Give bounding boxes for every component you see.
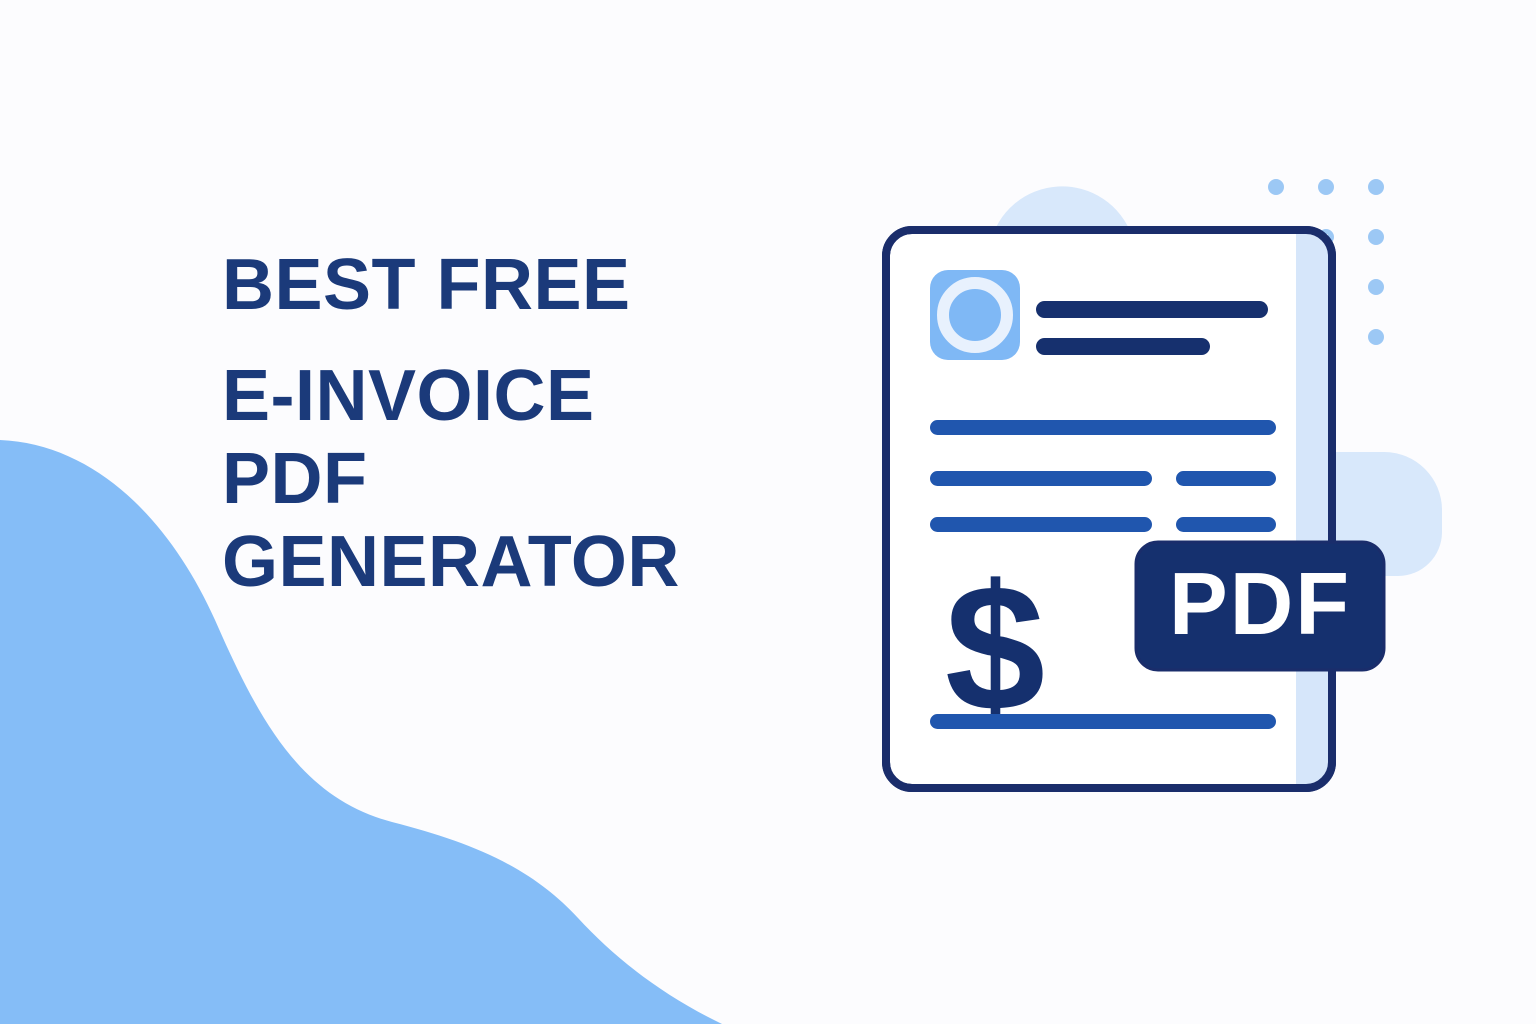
headline-line-3: PDF [222, 442, 842, 517]
headline-line-1: BEST FREE [222, 248, 842, 323]
headline-line-2: E-INVOICE [222, 359, 842, 434]
pdf-badge: PDF [840, 90, 1480, 830]
invoice-pdf-illustration: $ PDF [840, 90, 1480, 830]
headline-block: BEST FREE E-INVOICE PDF GENERATOR [222, 248, 842, 600]
headline-line-4: GENERATOR [222, 525, 842, 600]
pdf-badge-label: PDF [1169, 554, 1351, 653]
hero-banner: BEST FREE E-INVOICE PDF GENERATOR [0, 0, 1536, 1024]
